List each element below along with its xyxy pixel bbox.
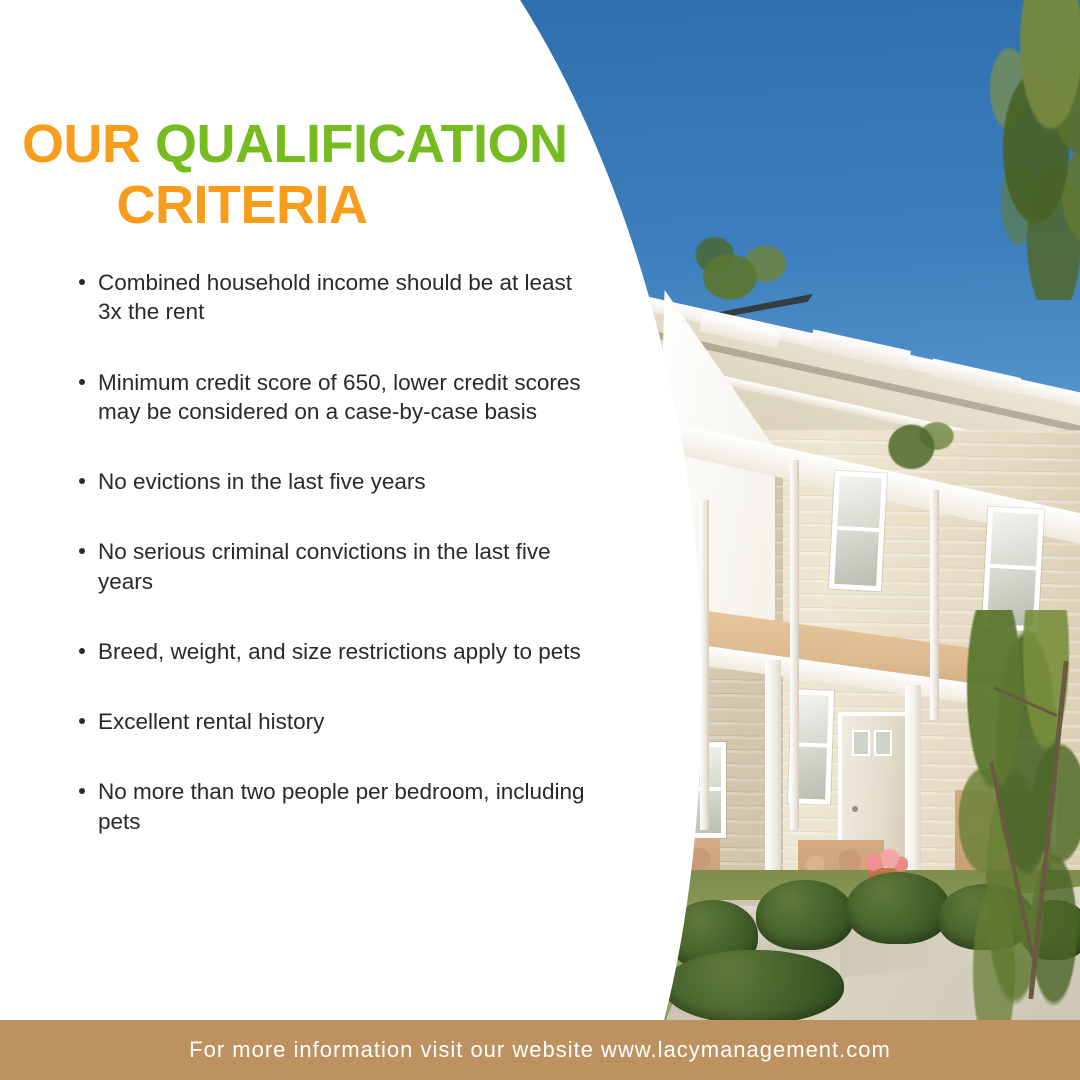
- page-title-criteria: CRITERIA: [22, 175, 582, 235]
- list-item: No evictions in the last five years: [70, 467, 600, 496]
- page-title-line-1: OUR QUALIFICATION: [22, 114, 582, 174]
- list-item: No more than two people per bedroom, inc…: [70, 777, 600, 836]
- footer-bar: For more information visit our website w…: [0, 1020, 1080, 1080]
- downspout-1: [790, 460, 799, 830]
- shrub-3: [846, 872, 950, 944]
- foreground-tree: [955, 610, 1080, 1020]
- list-item: Breed, weight, and size restrictions app…: [70, 637, 600, 666]
- page-title-qualification: QUALIFICATION: [155, 114, 567, 174]
- list-item: Combined household income should be at l…: [70, 268, 600, 327]
- list-item: Minimum credit score of 650, lower credi…: [70, 368, 600, 427]
- page-title: OUR QUALIFICATION CRITERIA: [22, 114, 582, 235]
- window-upper-left: [829, 471, 887, 592]
- door-knob-icon: [852, 806, 858, 812]
- content-area: OUR QUALIFICATION CRITERIA Combined hous…: [0, 0, 660, 1020]
- door-window-b: [874, 730, 892, 756]
- list-item: No serious criminal convictions in the l…: [70, 537, 600, 596]
- list-item: Excellent rental history: [70, 707, 600, 736]
- footer-website-text: For more information visit our website w…: [189, 1037, 891, 1063]
- downspout-2: [930, 490, 939, 720]
- shrub-2: [756, 880, 854, 950]
- flowers-icon: [862, 848, 908, 874]
- tree-canopy-top-right-icon: [958, 0, 1080, 300]
- page-title-our: OUR: [22, 114, 155, 174]
- shrub-foreground: [664, 950, 844, 1020]
- qualification-criteria-poster: OUR QUALIFICATION CRITERIA Combined hous…: [0, 0, 1080, 1080]
- door-window-a: [852, 730, 870, 756]
- criteria-list: Combined household income should be at l…: [70, 268, 600, 836]
